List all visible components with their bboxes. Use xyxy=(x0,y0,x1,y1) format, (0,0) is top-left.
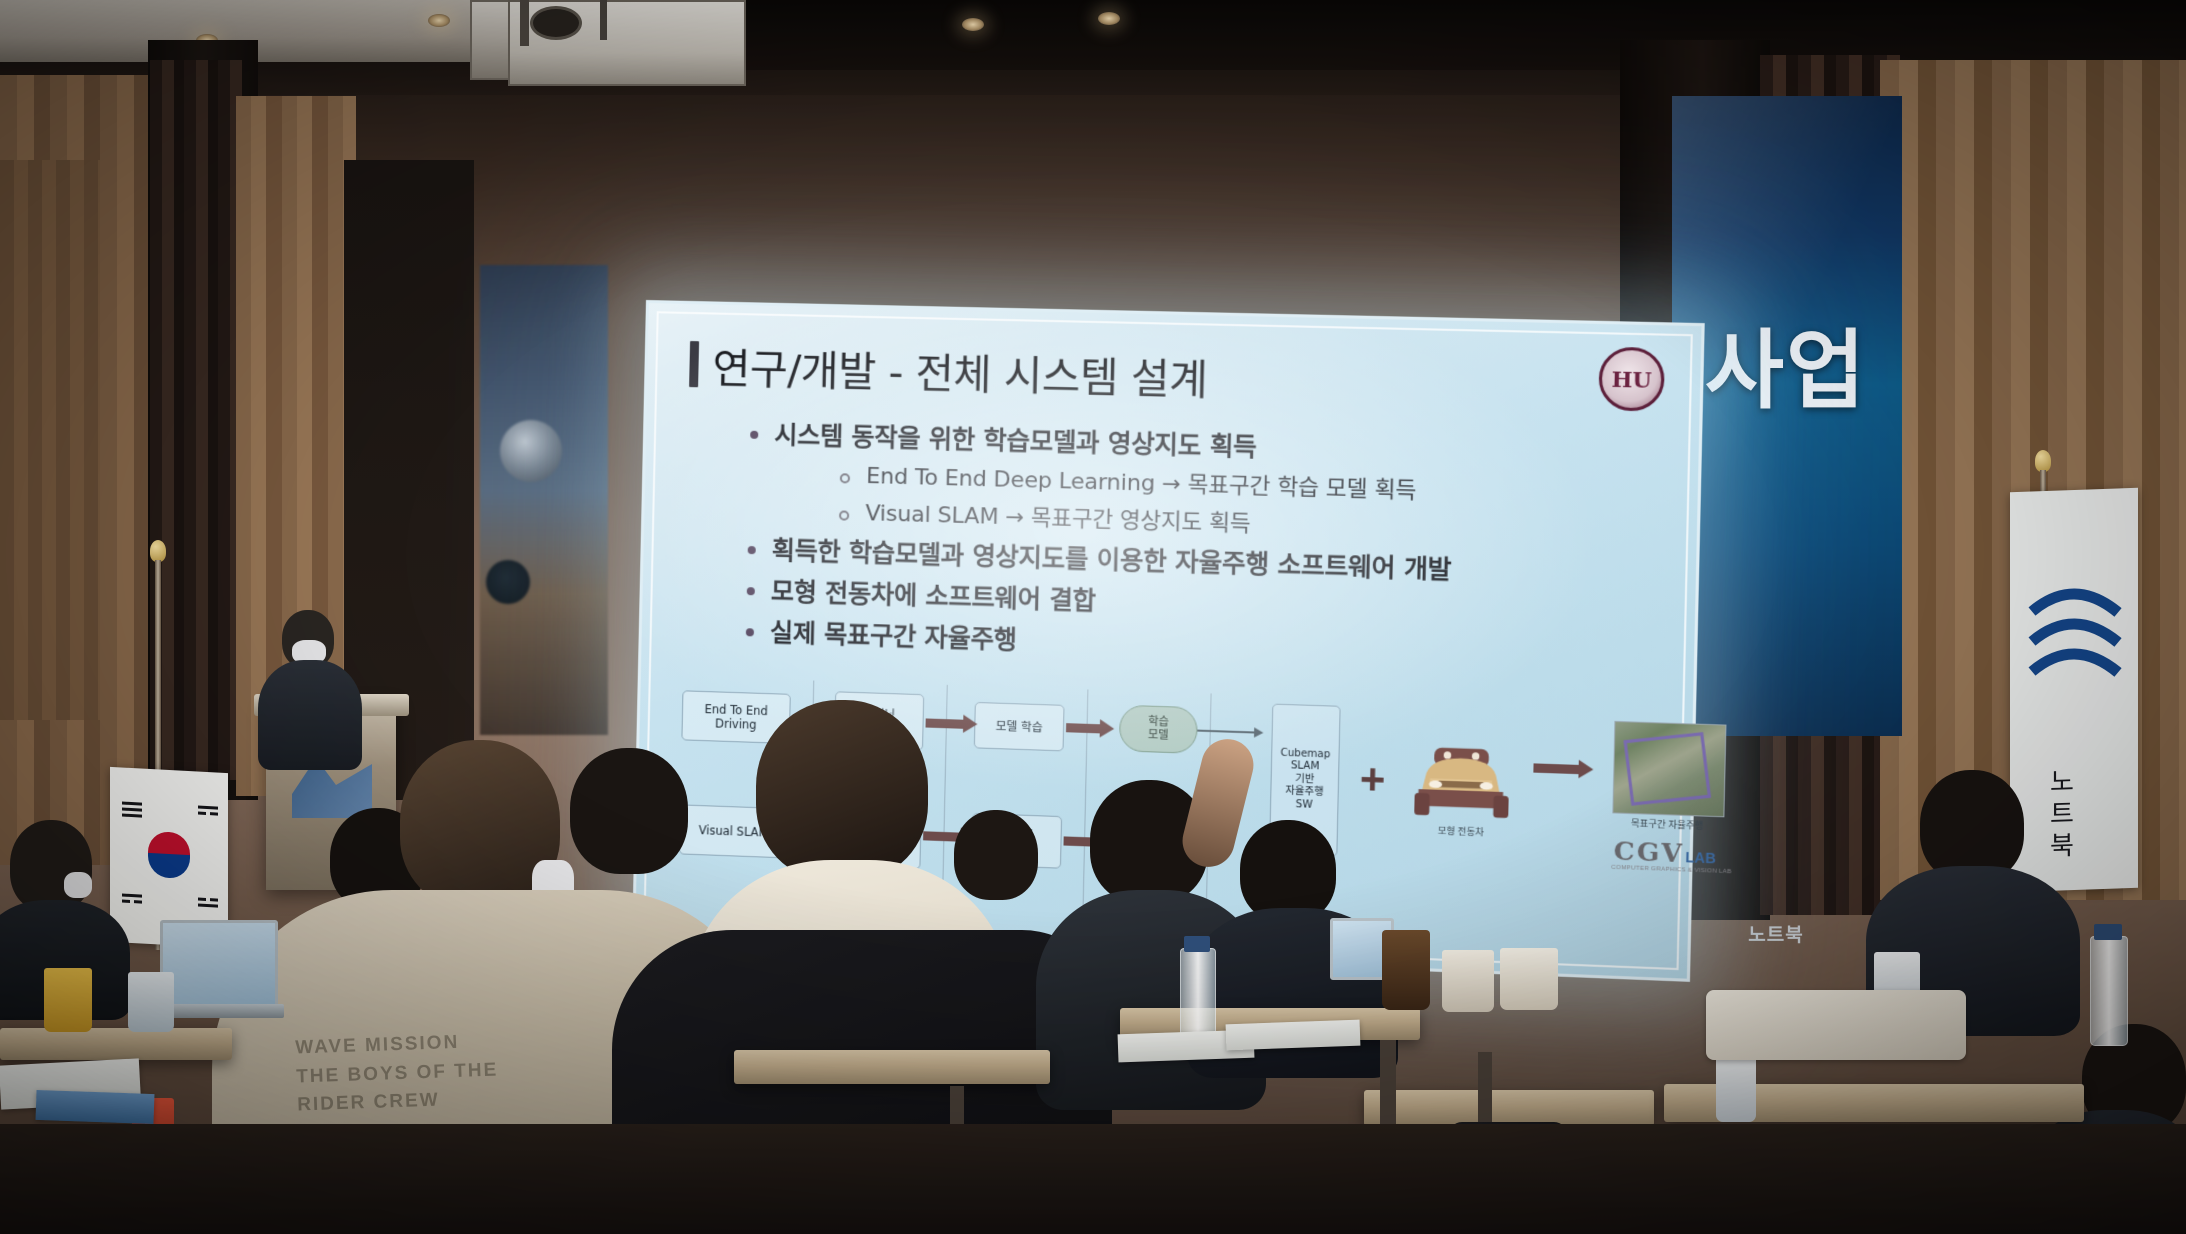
desk xyxy=(734,1050,1050,1084)
arrow-right-icon xyxy=(1533,763,1579,774)
trigram-mark xyxy=(134,900,142,903)
bullet-dot-icon xyxy=(746,628,754,636)
bullet-text: 실제 목표구간 자율주행 xyxy=(770,616,1017,657)
desk xyxy=(1364,1090,1654,1126)
food-container[interactable] xyxy=(1442,950,1494,1012)
bottle-cap[interactable] xyxy=(2094,924,2122,940)
ceiling-spotlight xyxy=(1098,12,1120,25)
trigram-mark xyxy=(198,812,206,815)
lecture-hall-photo: 사업 노트북 연구/개발 - 전체 시스템 설계 HU 시스템 동작을 위한 학… xyxy=(0,0,2186,1234)
head xyxy=(954,810,1038,900)
slide-bullet-list: 시스템 동작을 위한 학습모델과 영상지도 획득 End To End Deep… xyxy=(711,417,1656,685)
trigram-mark xyxy=(198,904,218,908)
poster-graphic xyxy=(500,420,562,482)
taegeuk-blue xyxy=(148,853,190,879)
bullet-text: Visual SLAM → 목표구간 영상지도 획득 xyxy=(865,499,1251,539)
head xyxy=(756,700,928,880)
svg-text:트: 트 xyxy=(2050,799,2074,830)
wall-poster xyxy=(480,265,608,735)
trigram-mark xyxy=(210,898,218,901)
wall-wood-panel-left-2 xyxy=(0,160,100,720)
water-bottle[interactable] xyxy=(2090,936,2128,1046)
hoodie-graphic-text: WAVE MISSIONTHE BOYS OF THE RIDER CREW xyxy=(295,1025,557,1108)
iced-coffee-cup[interactable] xyxy=(1382,930,1430,1010)
projector-mount-arm xyxy=(520,0,529,46)
bullet-dot-icon xyxy=(748,546,756,554)
svg-text:노: 노 xyxy=(2050,767,2074,798)
head xyxy=(10,820,92,912)
poster-graphic-2 xyxy=(486,560,530,604)
lab-logo-suffix: LAB xyxy=(1685,849,1716,867)
banner-text: 사업 xyxy=(1676,300,1896,425)
bullet-ring-icon xyxy=(839,510,849,520)
projector-mount-arm-2 xyxy=(600,0,607,40)
arrow-right-icon xyxy=(1066,723,1101,733)
drink-cup-clear[interactable] xyxy=(128,972,174,1032)
desk xyxy=(0,1028,232,1060)
bullet-ring-icon xyxy=(840,473,850,483)
slide-title: 연구/개발 - 전체 시스템 설계 xyxy=(712,335,1208,407)
diagram-divider xyxy=(1083,689,1089,907)
paper-cup[interactable] xyxy=(1716,1056,1756,1122)
curtain-left xyxy=(150,60,242,780)
trigram-mark xyxy=(122,814,142,818)
flag-finial xyxy=(150,540,166,562)
diagram-pill-learned-model: 학습 모델 xyxy=(1119,705,1198,754)
trigram-mark xyxy=(198,806,218,810)
arrow-thin-right-icon xyxy=(1197,730,1255,734)
blue-folder[interactable] xyxy=(36,1090,155,1124)
bullet-dot-icon xyxy=(750,431,758,439)
trigram-mark xyxy=(122,894,142,898)
svg-text:북: 북 xyxy=(2050,831,2074,862)
trigram-mark xyxy=(210,812,218,815)
diagram-divider xyxy=(942,685,948,902)
arrow-right-icon xyxy=(926,718,965,728)
vehicle-caption: 모형 전동차 xyxy=(1417,823,1505,839)
drink-cup-yellow[interactable] xyxy=(44,968,92,1032)
laptop-screen[interactable] xyxy=(160,920,278,1010)
bottle-cap[interactable] xyxy=(1184,936,1210,952)
diagram-box-model-training: 모델 학습 xyxy=(974,702,1065,751)
presenter-body xyxy=(258,660,362,770)
trigram-mark xyxy=(122,808,142,812)
face-mask xyxy=(64,872,92,898)
papers-on-desk[interactable] xyxy=(1226,1020,1361,1051)
map-route-overlay xyxy=(1623,732,1711,806)
ceiling-spotlight xyxy=(962,18,984,31)
food-container[interactable] xyxy=(1500,948,1558,1010)
satellite-map-result xyxy=(1612,721,1726,817)
head xyxy=(570,748,688,874)
tote-bag[interactable] xyxy=(1706,990,1966,1060)
bullet-dot-icon xyxy=(747,587,755,595)
floor-foreground xyxy=(0,1124,2186,1234)
seal-initials: HU xyxy=(1611,366,1652,393)
trigram-mark xyxy=(122,802,142,806)
projector-lens xyxy=(530,6,582,40)
bullet-text: End To End Deep Learning → 목표구간 학습 모델 획득 xyxy=(866,462,1417,506)
ceiling-spotlight xyxy=(428,14,450,27)
trigram-mark xyxy=(198,898,206,901)
trigram-mark xyxy=(122,900,130,903)
title-accent-bar xyxy=(689,341,699,387)
flag-cloth: 노 트 북 xyxy=(2010,488,2138,892)
model-vehicle-illustration xyxy=(1405,741,1520,825)
bullet-text: 모형 전동차에 소프트웨어 결합 xyxy=(771,575,1097,618)
head xyxy=(1240,820,1336,922)
banner-subtext: 노트북 xyxy=(1676,920,1876,947)
slide-title-group: 연구/개발 - 전체 시스템 설계 xyxy=(689,334,1208,407)
plus-symbol-icon: + xyxy=(1359,757,1385,801)
flag-finial xyxy=(2035,450,2051,472)
lab-logo-text: CGV xyxy=(1613,836,1684,868)
